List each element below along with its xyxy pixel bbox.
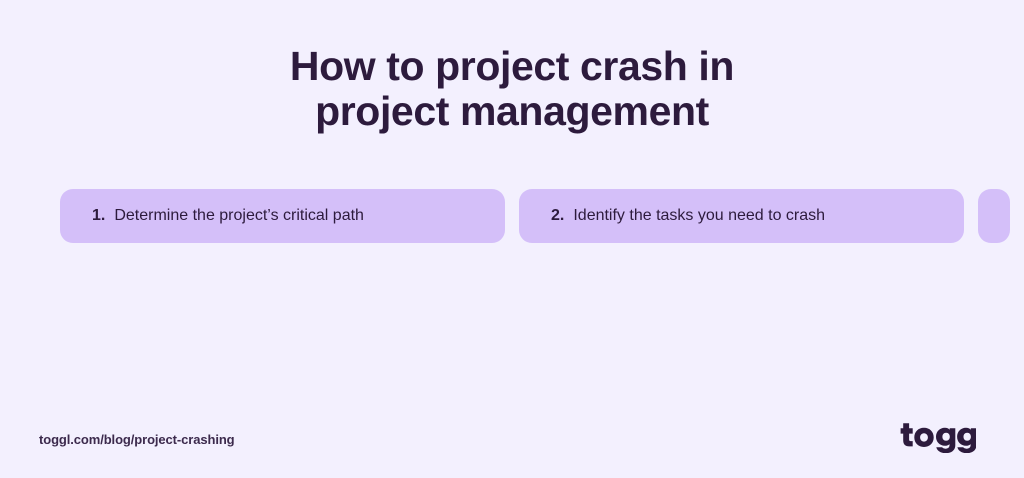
infographic-canvas: How to project crash in project manageme… [0, 0, 1024, 478]
step-label-1: Determine the project’s critical path [114, 207, 364, 225]
steps-list: 1. Determine the project’s critical path… [60, 189, 964, 243]
step-number-2: 2. [551, 207, 564, 225]
page-title-line-2: project management [0, 89, 1024, 134]
toggl-logo-icon [900, 419, 976, 453]
step-card-2: 2. Identify the tasks you need to crash [519, 189, 964, 243]
step-card-1: 1. Determine the project’s critical path [60, 189, 505, 243]
page-title-line-1: How to project crash in [0, 44, 1024, 89]
page-title: How to project crash in project manageme… [0, 44, 1024, 134]
step-label-2: Identify the tasks you need to crash [573, 207, 825, 225]
step-number-1: 1. [92, 207, 105, 225]
source-url: toggl.com/blog/project-crashing [39, 432, 235, 447]
toggl-logo [900, 418, 976, 454]
step-card-3: 3. Understand the trade-off [978, 189, 1010, 243]
